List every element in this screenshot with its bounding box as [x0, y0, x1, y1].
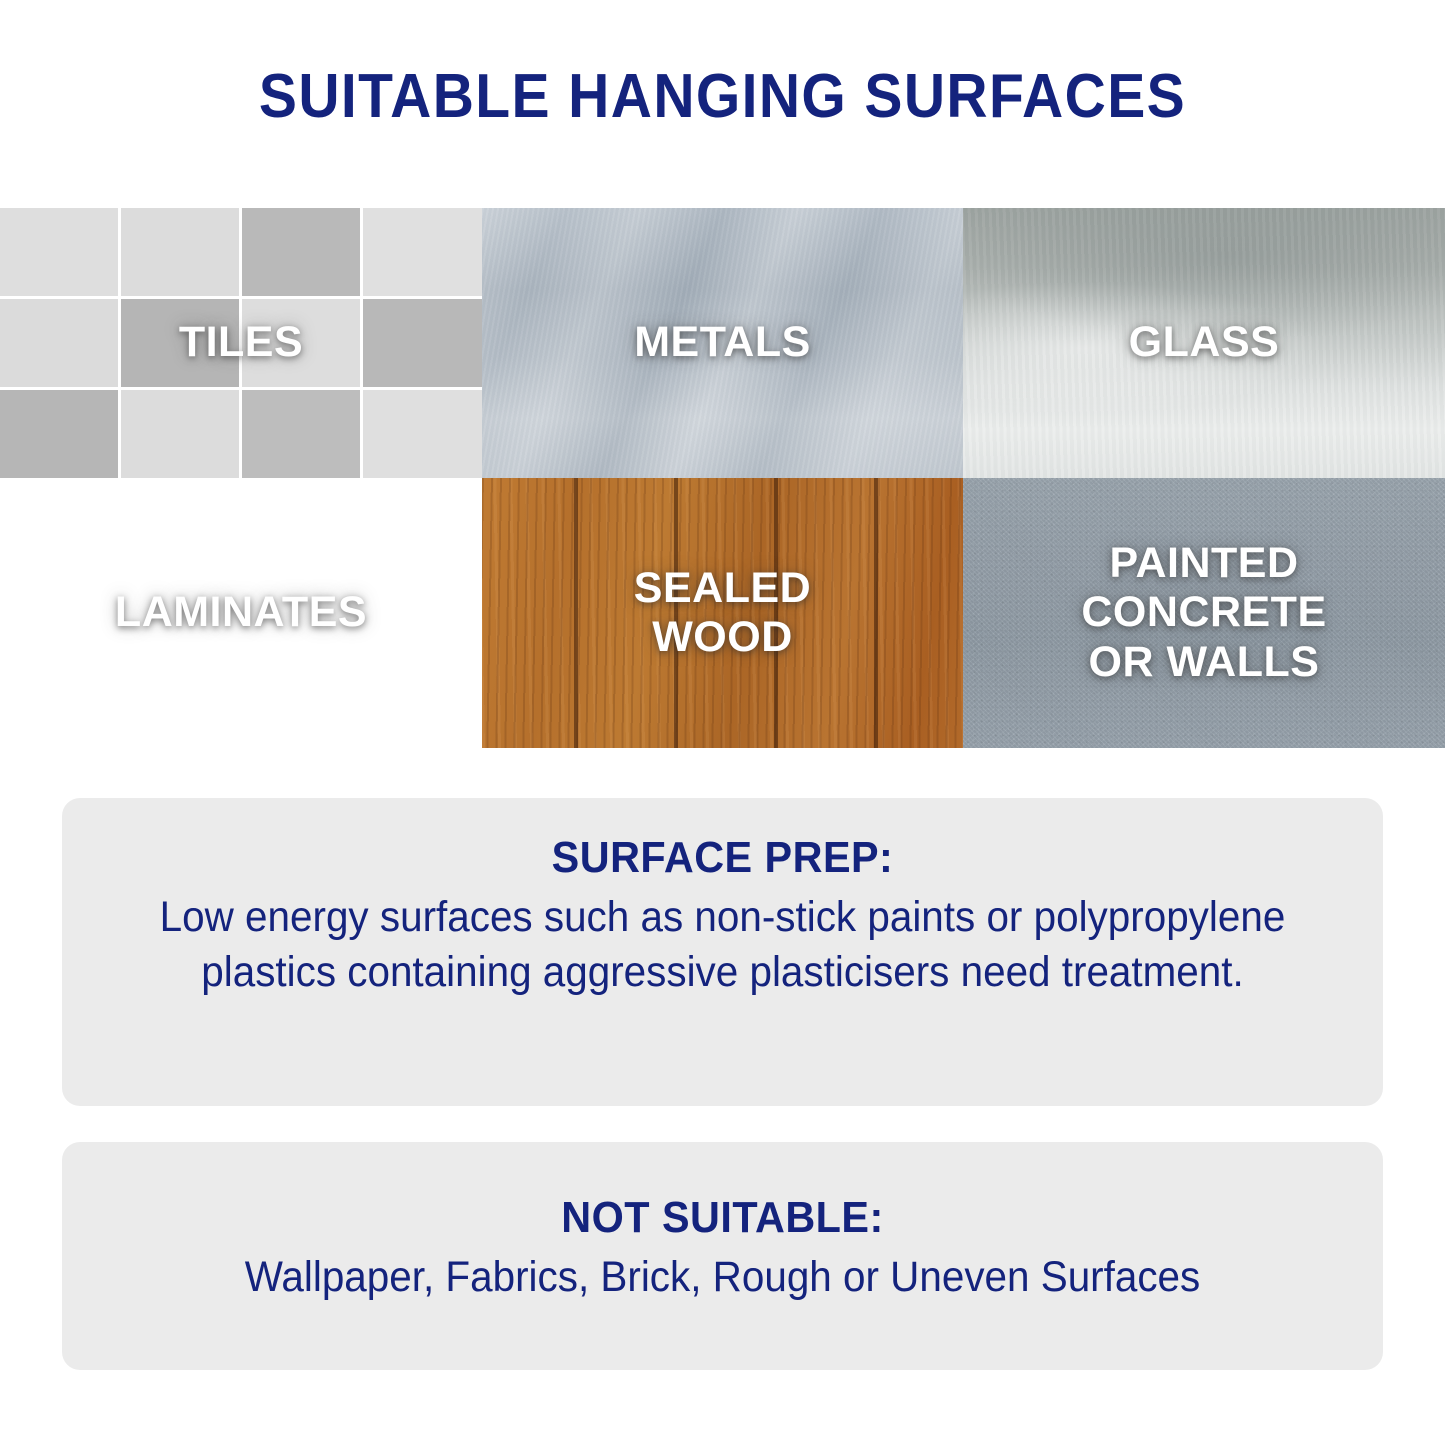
page-title: SUITABLE HANGING SURFACES	[58, 66, 1387, 128]
tile-square	[121, 208, 239, 296]
tile-square	[363, 390, 482, 478]
tile-square	[242, 208, 360, 296]
not-suitable-body: Wallpaper, Fabrics, Brick, Rough or Unev…	[139, 1250, 1306, 1305]
surface-label-sealed-wood: SEALED WOOD	[624, 564, 821, 663]
surface-label-painted-concrete: PAINTED CONCRETE OR WALLS	[1071, 539, 1336, 687]
surface-cell-metals[interactable]: METALS	[482, 208, 963, 478]
surface-cell-tiles[interactable]: TILES	[0, 208, 482, 478]
not-suitable-heading: NOT SUITABLE:	[139, 1194, 1306, 1242]
surface-cell-sealed-wood[interactable]: SEALED WOOD	[482, 478, 963, 748]
surface-grid: TILES METALS GLASS LAMINATES SEALED WOOD…	[0, 208, 1445, 748]
tile-square	[363, 299, 482, 387]
surface-label-tiles: TILES	[169, 318, 313, 367]
surface-cell-glass[interactable]: GLASS	[963, 208, 1445, 478]
surface-label-metals: METALS	[624, 318, 821, 367]
surface-cell-laminates[interactable]: LAMINATES	[0, 478, 482, 748]
surface-cell-painted-concrete[interactable]: PAINTED CONCRETE OR WALLS	[963, 478, 1445, 748]
surface-prep-heading: SURFACE PREP:	[139, 834, 1306, 882]
tile-square	[0, 208, 118, 296]
tile-square	[242, 390, 360, 478]
surface-prep-card: SURFACE PREP: Low energy surfaces such a…	[62, 798, 1383, 1106]
surface-label-laminates: LAMINATES	[105, 588, 377, 637]
surface-prep-body: Low energy surfaces such as non-stick pa…	[139, 890, 1306, 1000]
tile-square	[363, 208, 482, 296]
tile-square	[0, 299, 118, 387]
not-suitable-card: NOT SUITABLE: Wallpaper, Fabrics, Brick,…	[62, 1142, 1383, 1370]
tile-square	[121, 390, 239, 478]
surface-label-glass: GLASS	[1119, 318, 1290, 367]
tile-square	[0, 390, 118, 478]
